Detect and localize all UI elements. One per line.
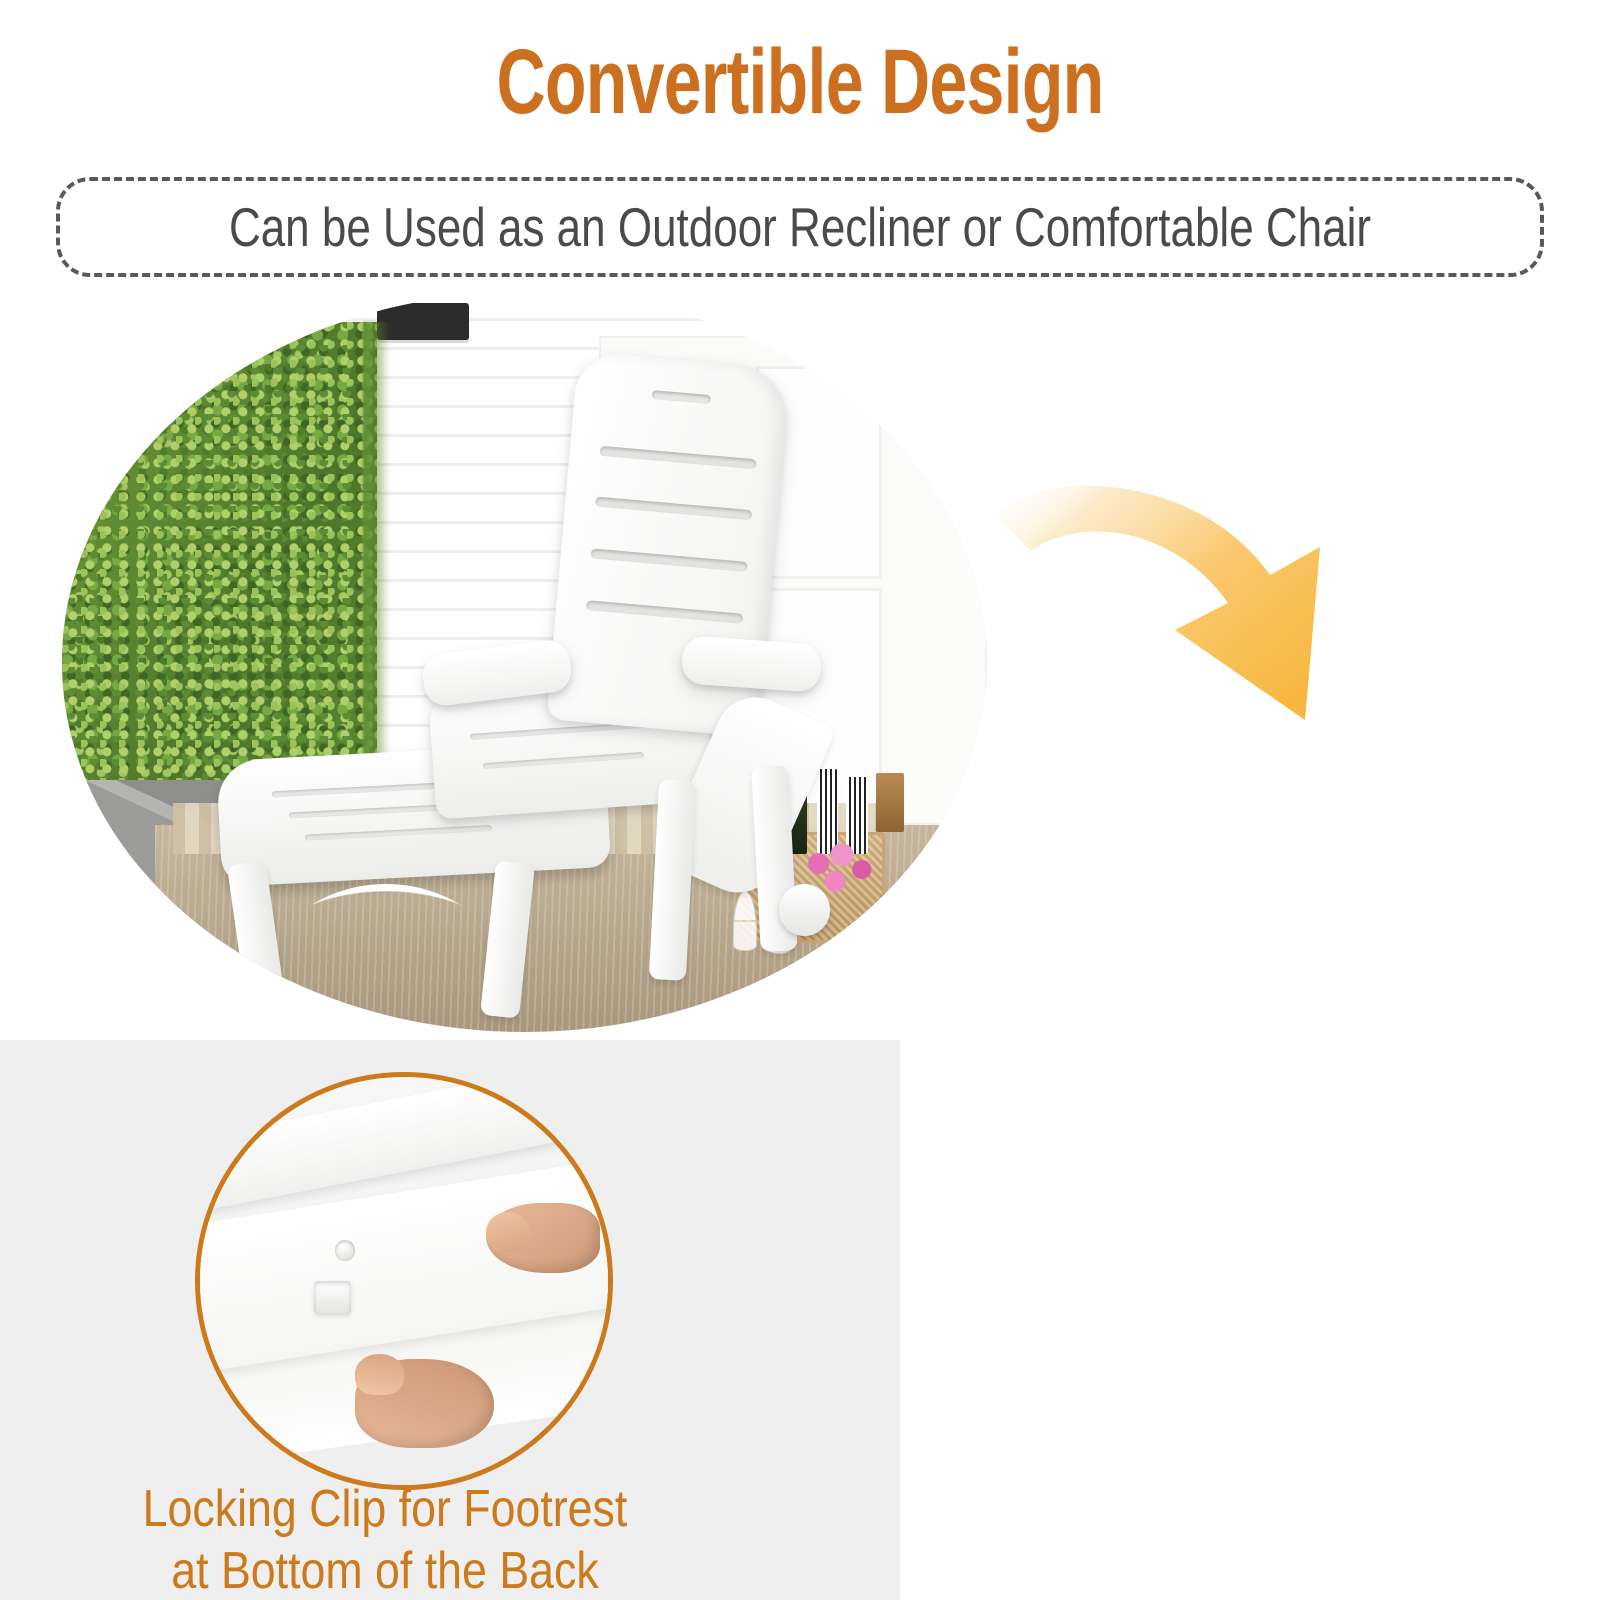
railing-rail bbox=[800, 1362, 1600, 1375]
arrow-shape bbox=[995, 486, 1320, 720]
locking-clip-detail-photo bbox=[195, 1072, 613, 1490]
chair-locking-clip bbox=[1192, 1507, 1280, 1557]
cutting-board bbox=[876, 773, 904, 832]
chair-folded-footrest bbox=[1300, 1273, 1451, 1473]
stone-terrace bbox=[800, 1340, 1600, 1585]
screw-boss bbox=[335, 1240, 355, 1260]
terracotta-pot bbox=[944, 1206, 1016, 1396]
stone-paver bbox=[1040, 1395, 1284, 1511]
chair-leg bbox=[1288, 1383, 1335, 1564]
detail-caption: Locking Clip for Footrest at Bottom of t… bbox=[54, 1478, 716, 1600]
caption-line-2: at Bottom of the Back bbox=[54, 1540, 716, 1600]
product-infographic: Convertible Design Can be Used as an Out… bbox=[0, 0, 1600, 1600]
backrest-slot bbox=[590, 548, 748, 572]
backrest-handle-slot bbox=[1170, 902, 1226, 913]
lounger-wheel bbox=[779, 884, 830, 936]
terracotta-finial bbox=[1388, 621, 1460, 733]
chair-armrest-right bbox=[1276, 1185, 1428, 1271]
lounger-armrest-right bbox=[680, 635, 822, 693]
chair-backrest bbox=[1088, 871, 1304, 1306]
thumb-lower bbox=[355, 1354, 404, 1395]
backrest-slot bbox=[594, 496, 752, 520]
chair-seat bbox=[1016, 1251, 1352, 1396]
locking-clip bbox=[314, 1281, 351, 1314]
railing-rail bbox=[800, 1128, 1600, 1144]
chair-recline-hinge bbox=[1152, 1290, 1224, 1329]
wooden-beam bbox=[1364, 470, 1599, 595]
backrest-slot bbox=[1112, 967, 1280, 980]
page-title: Convertible Design bbox=[208, 36, 1392, 128]
wooden-post bbox=[1403, 604, 1441, 1229]
balcony-railing bbox=[800, 1139, 1600, 1384]
curved-transition-arrow bbox=[985, 455, 1365, 725]
backrest-slot bbox=[1112, 1089, 1280, 1102]
wall-fixture bbox=[377, 303, 470, 340]
backrest-slot bbox=[599, 445, 757, 469]
thumb-upper bbox=[486, 1212, 531, 1253]
recliner-mode-photo bbox=[62, 292, 987, 1032]
caption-line-1: Locking Clip for Footrest bbox=[54, 1478, 716, 1540]
cliff-vegetation bbox=[1344, 537, 1600, 760]
chair-leg bbox=[992, 1372, 1040, 1564]
trailing-plant bbox=[992, 1184, 1056, 1318]
stone-paver bbox=[1296, 1429, 1540, 1556]
backrest-slot bbox=[1112, 1150, 1280, 1163]
backrest-slot bbox=[585, 600, 743, 624]
subtitle-callout-box: Can be Used as an Outdoor Recliner or Co… bbox=[56, 177, 1544, 277]
cliffside bbox=[1360, 515, 1600, 850]
subtitle-text: Can be Used as an Outdoor Recliner or Co… bbox=[208, 181, 1392, 273]
chair-armrest-left bbox=[971, 1172, 1132, 1267]
backrest-slot bbox=[1112, 1028, 1280, 1041]
backrest-handle-slot bbox=[651, 390, 711, 404]
